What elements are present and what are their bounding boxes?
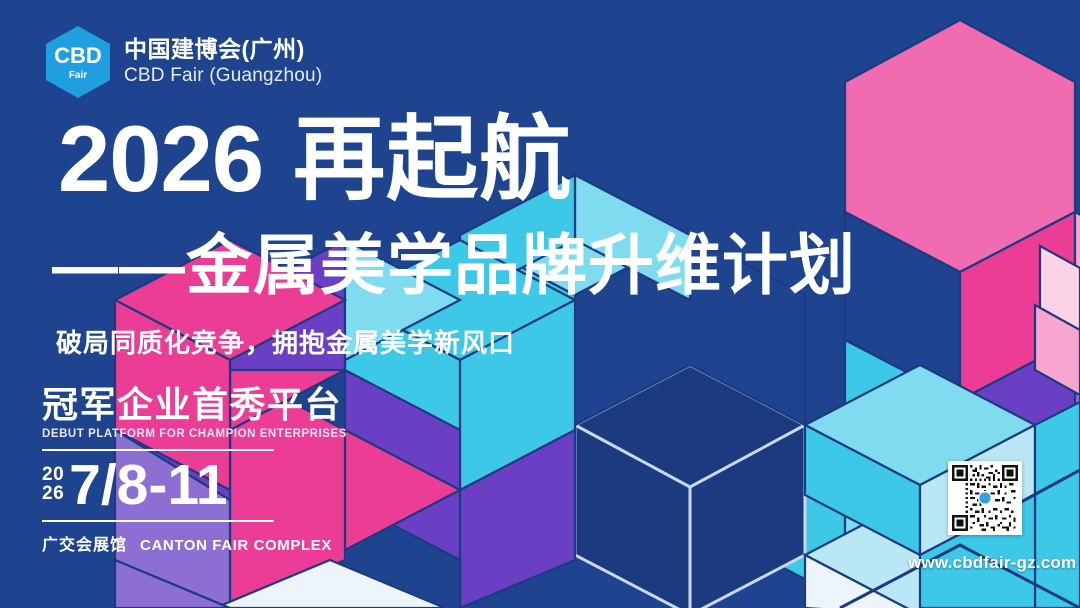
hero-headline: 2026 再起航 (58, 112, 572, 206)
brand-name-cn: 中国建博会(广州) (124, 36, 322, 62)
qr-code[interactable] (948, 461, 1022, 535)
hero-subheadline: ——金属美学品牌升维计划 (52, 232, 856, 298)
cbd-hexagon-logo-icon: CBD Fair (46, 26, 110, 98)
brand-logo-lockup: CBD Fair 中国建博会(广州) CBD Fair (Guangzhou) (46, 26, 322, 98)
event-date-row: 20 26 7/8-11 (42, 457, 312, 514)
event-info-block: 冠军企业首秀平台 DEBUT PLATFORM FOR CHAMPION ENT… (42, 386, 312, 555)
logo-mark-cbd: CBD (54, 45, 102, 67)
hero-slogan: 再起航 (293, 114, 572, 206)
hero-year: 2026 (58, 112, 263, 206)
hero-tagline: 破局同质化竞争，拥抱金属美学新风口 (56, 330, 515, 356)
event-dates: 7/8-11 (69, 457, 227, 514)
badge-title-cn: 冠军企业首秀平台 (42, 386, 312, 424)
brand-name-en: CBD Fair (Guangzhou) (124, 65, 322, 88)
website-url[interactable]: www.cbdfair-gz.com (908, 553, 1076, 573)
venue-name-en: CANTON FAIR COMPLEX (140, 537, 332, 554)
event-year-top: 20 (42, 465, 64, 484)
date-rule-top (42, 449, 274, 451)
logo-mark-fair: Fair (69, 71, 87, 81)
event-year-bottom: 26 (42, 484, 64, 503)
date-rule-bottom (42, 520, 274, 522)
qr-code-icon (952, 465, 1018, 531)
badge-title-en: DEBUT PLATFORM FOR CHAMPION ENTERPRISES (42, 428, 312, 440)
event-venue-row: 广交会展馆 CANTON FAIR COMPLEX (42, 531, 312, 555)
promo-banner: CBD Fair 中国建博会(广州) CBD Fair (Guangzhou) … (0, 0, 1080, 608)
venue-name-cn: 广交会展馆 (42, 531, 127, 555)
event-year-stacked: 20 26 (42, 465, 64, 506)
brand-name-block: 中国建博会(广州) CBD Fair (Guangzhou) (124, 36, 322, 87)
